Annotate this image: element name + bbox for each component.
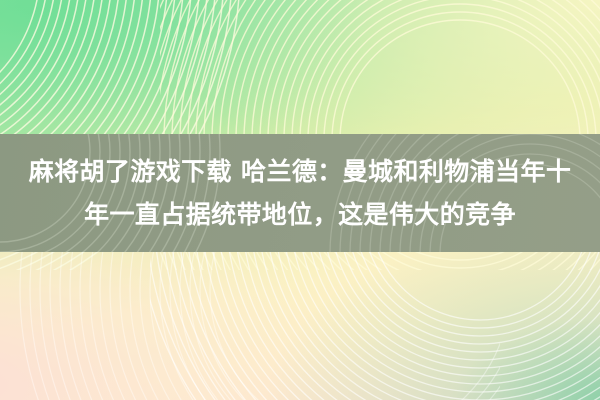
headline-band: 麻将胡了游戏下载 哈兰德：曼城和利物浦当年十 年一直占据统带地位，这是伟大的竞争 [0,134,600,252]
headline-line-2: 年一直占据统带地位，这是伟大的竞争 [84,194,516,235]
banner-image: 麻将胡了游戏下载 哈兰德：曼城和利物浦当年十 年一直占据统带地位，这是伟大的竞争 [0,0,600,400]
headline-line-1: 麻将胡了游戏下载 哈兰德：曼城和利物浦当年十 [29,151,572,192]
headline-text: 麻将胡了游戏下载 哈兰德：曼城和利物浦当年十 年一直占据统带地位，这是伟大的竞争 [0,134,600,252]
